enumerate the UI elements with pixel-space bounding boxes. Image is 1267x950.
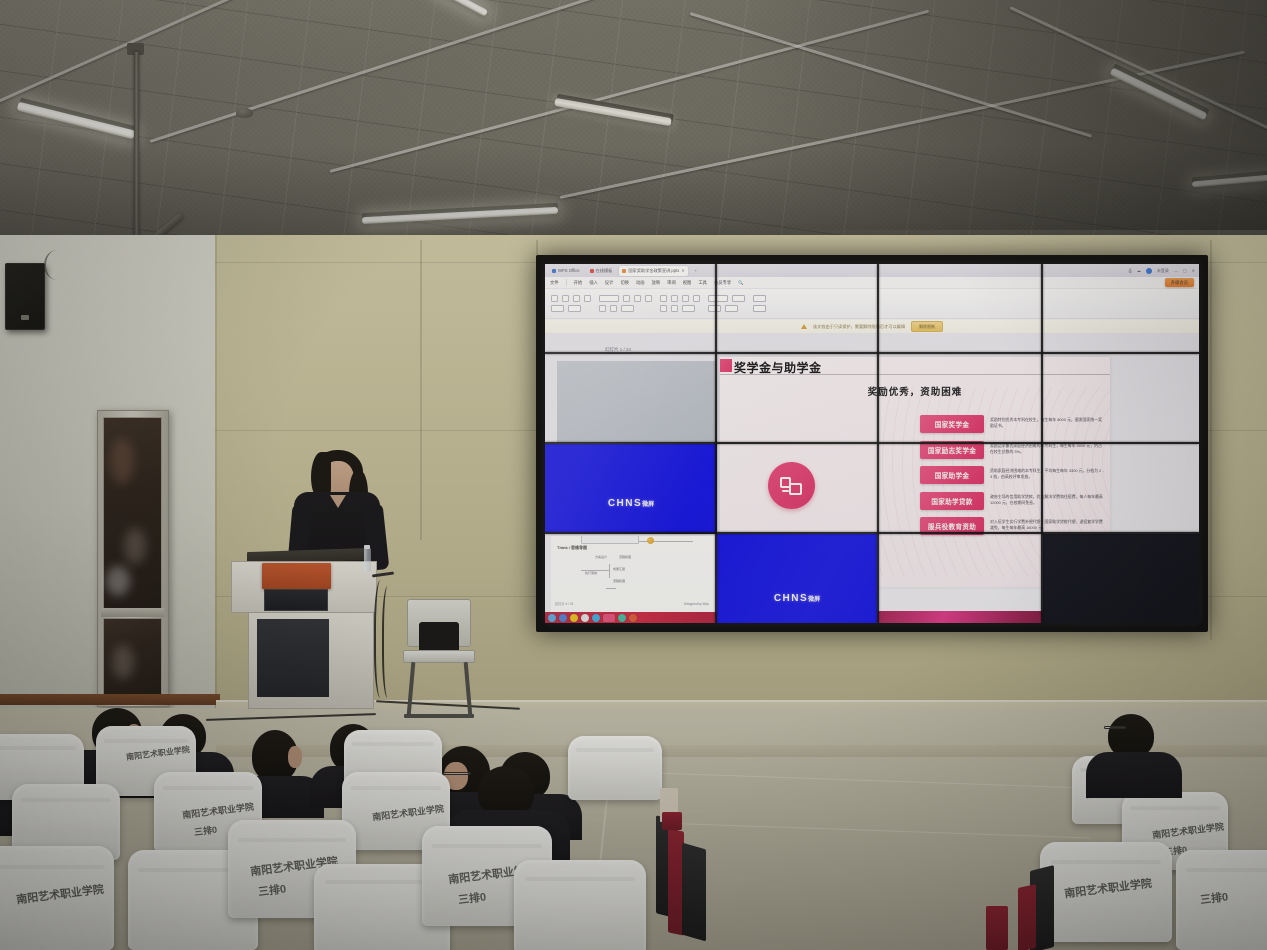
browser-icon[interactable] (559, 614, 567, 622)
seat-frame (986, 906, 1008, 950)
seat-label: 三排0 (457, 888, 487, 907)
tab-wps-office[interactable]: WPS Office (549, 266, 583, 276)
no-signal-logo-text: CHNS (774, 593, 808, 604)
video-wall[interactable]: WPS Office 在线模板 国家奖助学金政策宣讲.pptx ✕ + (536, 255, 1208, 632)
panel-idle-black (1043, 534, 1199, 623)
italic-icon[interactable] (645, 295, 652, 302)
audience-area: 南阳艺术职业学院 南阳艺术职业学院 南阳艺术职业学院 三排0 南阳艺术职业学院 … (0, 700, 1267, 950)
menu-item-review[interactable]: 审阅 (667, 280, 676, 286)
scholarship-label: 国家奖学金 (920, 415, 984, 433)
door-upper-glass (103, 417, 162, 609)
panel-seam-horizontal (545, 352, 1199, 354)
list-item: 国家助学贷款 政府主导的信用助学贷款，优先解决学费和住宿费，每人每年最高 120… (920, 492, 1105, 510)
flow-node-label: 执行落地 (585, 571, 597, 575)
door-reflection (110, 438, 134, 484)
bottle-cap (364, 545, 370, 549)
flow-node-label: 流程梳理 (619, 555, 631, 559)
door-reflection (106, 566, 130, 596)
no-signal-logo-suffix: 微屏 (808, 597, 820, 603)
flow-connector (609, 564, 610, 578)
seat-armrest (682, 843, 706, 942)
slide-subtitle: 奖励优秀，资助困难 (720, 384, 1110, 398)
columns-icon[interactable] (682, 305, 695, 312)
unlock-button[interactable]: 解除限制 (911, 321, 943, 332)
tab-label: 国家奖助学金政策宣讲.pptx (628, 268, 679, 274)
arrange-icon[interactable] (732, 295, 745, 302)
seat-label: 三排0 (257, 880, 287, 899)
door-reflection (124, 528, 146, 564)
flowchart-title: Think / 思维导图 (557, 545, 587, 551)
menu-item-design[interactable]: 设计 (605, 280, 614, 286)
tab-online-template[interactable]: 在线模板 (587, 266, 616, 276)
wps-ribbon[interactable] (545, 289, 1199, 319)
door-reflection (112, 645, 134, 679)
presenter-neckline (330, 495, 346, 508)
blank-grey-panel (557, 361, 717, 443)
ppt-icon (622, 269, 626, 273)
ceiling (0, 0, 1267, 255)
desktop-taskbar[interactable] (545, 612, 717, 623)
no-signal-logo-text: CHNS (608, 498, 642, 509)
video-wall-screen[interactable]: WPS Office 在线模板 国家奖助学金政策宣讲.pptx ✕ + (545, 264, 1199, 623)
ribbon-group-font[interactable] (599, 295, 652, 312)
wall-corner-seam (215, 235, 217, 725)
maximize-button[interactable]: ▢ (1183, 268, 1187, 273)
close-button[interactable]: ✕ (1192, 268, 1195, 273)
shop-icon[interactable] (629, 614, 637, 622)
menu-item-animation[interactable]: 动画 (636, 280, 645, 286)
copy-icon[interactable] (573, 295, 580, 302)
warning-icon (801, 324, 807, 329)
wall-panel-seam (420, 240, 422, 540)
scholarship-desc: 对入伍学生实行学费补偿代偿、国家助学贷款代偿、退役复学学费减免，每生每年最高 1… (990, 517, 1105, 531)
wps-tab-bar[interactable]: WPS Office 在线模板 国家奖助学金政策宣讲.pptx ✕ + (545, 264, 1199, 277)
flowchart-footer-left: 幻灯片 4 / 24 (555, 601, 573, 606)
align-right-icon[interactable] (682, 295, 689, 302)
panel-seam-horizontal (545, 442, 1199, 444)
list-item: 国家奖学金 奖励特别优秀本专科在校生，每生每年 8000 元，颁发国家统一奖励证… (920, 415, 1105, 433)
menu-divider (566, 279, 567, 286)
flow-node (581, 536, 639, 544)
speaker-logo (21, 315, 29, 320)
font-family-select[interactable] (599, 295, 619, 302)
list-item: 国家助学金 资助家庭经济困难的本专科生，平均每生每年 3300 元，分档为 2 … (920, 466, 1105, 484)
align-left-icon[interactable] (660, 295, 667, 302)
lecture-hall-scene: WPS Office 在线模板 国家奖助学金政策宣讲.pptx ✕ + (0, 0, 1267, 950)
readonly-warning-bar[interactable]: 该文档由于只读保护，需要解除限制后才可以编辑 解除限制 (545, 320, 1199, 333)
chair-seat (403, 650, 475, 663)
ribbon-row[interactable] (551, 305, 591, 312)
flow-node-label: 方案设计 (595, 555, 607, 559)
ribbon-row[interactable] (708, 305, 745, 312)
underline-icon[interactable] (599, 305, 606, 312)
scholarship-list: 国家奖学金 奖励特别优秀本专科在校生，每生每年 8000 元，颁发国家统一奖励证… (920, 415, 1105, 543)
seat-label: 三排0 (193, 823, 217, 839)
scholarship-label: 国家助学贷款 (920, 492, 984, 510)
ribbon-row[interactable] (753, 295, 766, 302)
flow-node-label: 成果汇报 (613, 567, 625, 571)
tab-close-icon[interactable]: ✕ (681, 268, 684, 273)
water-bottle[interactable] (364, 548, 371, 572)
bullets-icon[interactable] (693, 295, 700, 302)
tab-label: WPS Office (558, 268, 580, 273)
format-painter-icon[interactable] (584, 295, 591, 302)
font-size-select[interactable] (623, 295, 630, 302)
ribbon-group-shapes[interactable] (708, 295, 745, 312)
scholarship-desc: 政府主导的信用助学贷款，优先解决学费和住宿费，每人每年最高 12000 元，在校… (990, 492, 1105, 506)
glasses-icon (441, 772, 471, 775)
layout-icon[interactable] (568, 305, 581, 312)
new-tab-button[interactable]: + (692, 266, 700, 276)
menu-item-slideshow[interactable]: 放映 (652, 280, 661, 286)
lectern-equipment-bay (257, 619, 329, 697)
no-signal-logo: CHNS微屏 (608, 498, 654, 509)
audience-shoulders (1086, 752, 1182, 798)
notes-icon[interactable] (618, 614, 626, 622)
panel-flowchart[interactable]: Think / 思维导图 方案设计 流程梳理 执行落地 成果汇报 流程梳理 幻灯… (551, 536, 715, 616)
door-rail (101, 608, 164, 617)
ribbon-row[interactable] (660, 305, 700, 312)
video-wall-content: WPS Office 在线模板 国家奖助学金政策宣讲.pptx ✕ + (545, 264, 1199, 623)
ribbon-group-editing[interactable] (753, 295, 766, 312)
glasses-icon (1104, 726, 1126, 729)
new-tab-label: + (695, 268, 697, 273)
share-icon[interactable]: ⎙ (1129, 268, 1132, 273)
line-spacing-icon[interactable] (671, 305, 678, 312)
menu-item-transition[interactable]: 切换 (620, 280, 629, 286)
find-icon[interactable] (753, 295, 766, 302)
replace-icon[interactable] (753, 305, 766, 312)
ribbon-row[interactable] (599, 305, 652, 312)
search-icon[interactable]: 🔍 (738, 280, 743, 286)
warning-text: 该文档由于只读保护，需要解除限制后才可以编辑 (813, 324, 905, 330)
ribbon-row[interactable] (599, 295, 652, 302)
door-lower-glass (103, 618, 162, 701)
paste-icon[interactable] (551, 295, 558, 302)
panel-no-signal: CHNS微屏 (545, 444, 717, 534)
ribbon-group-paragraph[interactable] (660, 295, 700, 312)
scholarship-label: 国家助学金 (920, 466, 984, 484)
seat-frame (1018, 884, 1036, 950)
ribbon-row[interactable] (753, 305, 766, 312)
seat-label: 三排0 (1199, 888, 1229, 907)
devices-icon (768, 462, 815, 509)
menu-item-home[interactable]: 开始 (574, 280, 583, 286)
wps-icon (552, 269, 556, 273)
scholarship-desc: 资助家庭经济困难的本专科生，平均每生每年 3300 元，分档为 2 - 3 档，… (990, 466, 1105, 480)
bold-icon[interactable] (634, 295, 641, 302)
seat-cover (514, 860, 646, 950)
new-slide-icon[interactable] (551, 305, 564, 312)
flow-connector (606, 588, 616, 589)
menu-item-tools[interactable]: 工具 (698, 280, 707, 286)
avatar[interactable] (1146, 268, 1152, 274)
indent-icon[interactable] (660, 305, 667, 312)
chat-icon[interactable] (592, 614, 600, 622)
ribbon-group-clipboard[interactable] (551, 295, 591, 312)
menu-item-insert[interactable]: 插入 (589, 280, 598, 286)
explorer-icon[interactable] (548, 614, 556, 622)
flow-marker (647, 537, 654, 544)
tab-label: 在线模板 (596, 268, 613, 274)
lectern-control-panel[interactable] (264, 589, 328, 611)
devices-icon-glyph (780, 475, 804, 497)
smoke-detector-icon (236, 108, 253, 118)
seat-cover (568, 736, 662, 800)
speaker-cable (44, 250, 70, 280)
ribbon-row[interactable] (708, 295, 745, 302)
flow-node-label: 流程梳理 (613, 579, 625, 583)
audience-face (288, 746, 302, 768)
tab-active-document[interactable]: 国家奖助学金政策宣讲.pptx ✕ (619, 266, 687, 276)
align-center-icon[interactable] (671, 295, 678, 302)
cut-icon[interactable] (562, 295, 569, 302)
wps-menu-bar[interactable]: 文件 开始 插入 设计 切换 动画 放映 审阅 视图 工具 会员专享 🔍 升级会… (545, 277, 1199, 289)
no-signal-logo-suffix: 微屏 (642, 502, 654, 508)
flowchart-footer-right: Designed by Wps (684, 602, 709, 606)
cloud-icon[interactable]: ☁ (1137, 268, 1141, 273)
slide-title-rule (720, 374, 1110, 375)
panel-seam-horizontal (545, 532, 1199, 534)
ribbon-row[interactable] (551, 295, 591, 302)
strike-icon[interactable] (610, 305, 617, 312)
player-icon[interactable] (581, 614, 589, 622)
panel-no-signal: CHNS微屏 (717, 534, 877, 623)
account-label[interactable]: 未登录 (1157, 268, 1169, 274)
laptop[interactable] (262, 563, 331, 589)
email-icon[interactable] (570, 614, 578, 622)
seat-frame (662, 812, 682, 830)
wall-speaker (5, 263, 45, 330)
wps-icon[interactable] (603, 614, 615, 622)
scholarship-desc: 奖励特别优秀本专科在校生，每生每年 8000 元，颁发国家统一奖励证书。 (990, 415, 1105, 429)
slide-title-accent (720, 359, 732, 372)
no-signal-logo: CHNS微屏 (774, 593, 820, 604)
shape-outline-icon[interactable] (725, 305, 738, 312)
text-color-icon[interactable] (621, 305, 634, 312)
wall-panel-seam (1210, 240, 1212, 640)
menu-item-view[interactable]: 视图 (683, 280, 692, 286)
minimize-button[interactable]: — (1174, 268, 1178, 273)
menu-item-file[interactable]: 文件 (550, 280, 559, 286)
flow-connector (663, 541, 693, 542)
shapes-gallery[interactable] (708, 295, 728, 302)
upgrade-button[interactable]: 升级会员 (1165, 278, 1194, 287)
cable (382, 586, 396, 698)
window-right-controls[interactable]: ⎙ ☁ 未登录 — ▢ ✕ (1129, 268, 1195, 274)
ribbon-row[interactable] (660, 295, 700, 302)
template-icon (590, 269, 594, 273)
